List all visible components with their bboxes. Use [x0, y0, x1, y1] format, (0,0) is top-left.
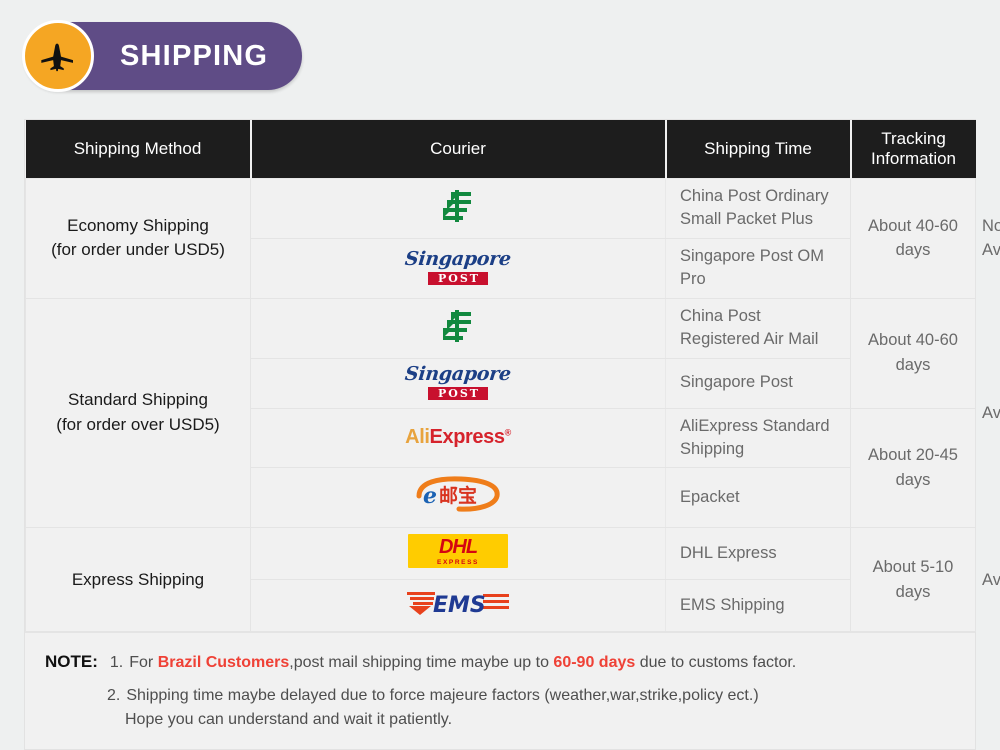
- note-item-2-number: 2.: [107, 684, 120, 709]
- badge-title: SHIPPING: [120, 40, 268, 73]
- shipping-time-cell: About 40-60 days: [851, 298, 976, 408]
- china-post-logo: [251, 179, 666, 239]
- courier-name: Epacket: [666, 468, 851, 528]
- dhl-wordmark: DHL: [408, 536, 508, 559]
- aliexpress-e: E: [430, 426, 443, 448]
- table-row: Standard Shipping (for order over USD5): [26, 298, 976, 358]
- epacket-logo: e 邮宝: [251, 468, 666, 528]
- note-1-highlight-days: 60-90 days: [553, 654, 635, 671]
- header-courier: Courier: [251, 120, 666, 179]
- ems-logo: EMS: [251, 580, 666, 632]
- method-standard-shipping: Standard Shipping (for order over USD5): [26, 298, 251, 528]
- aliexpress-ali: Ali: [405, 426, 429, 448]
- shipping-info-page: SHIPPING Shipping Method Courier Shippin…: [0, 0, 1000, 748]
- method-express-shipping: Express Shipping: [26, 528, 251, 632]
- method-label: Standard Shipping: [68, 390, 208, 409]
- method-label: Economy Shipping: [67, 216, 209, 235]
- singapore-post-script: Singapore: [404, 250, 512, 269]
- note-label: NOTE:: [45, 649, 98, 675]
- note-line-2: 2. Shipping time maybe delayed due to fo…: [45, 684, 955, 709]
- table-row: Economy Shipping (for order under USD5): [26, 179, 976, 239]
- method-sublabel: (for order over USD5): [34, 413, 242, 438]
- note-line-1: NOTE: 1. For Brazil Customers,post mail …: [45, 649, 955, 676]
- note-item-2-text: Shipping time maybe delayed due to force…: [126, 684, 758, 709]
- method-sublabel: (for order under USD5): [34, 238, 242, 263]
- shipping-time-cell: About 5-10 days: [851, 528, 976, 632]
- method-economy-shipping: Economy Shipping (for order under USD5): [26, 179, 251, 299]
- note-1-part-1: For: [129, 654, 157, 671]
- dhl-subtext: EXPRESS: [408, 559, 508, 566]
- courier-name: Singapore Post: [666, 358, 851, 408]
- tracking-line1: Not: [982, 217, 1000, 235]
- shipping-table: Shipping Method Courier Shipping Time Tr…: [25, 120, 976, 632]
- note-line-2-continued: Hope you can understand and wait it pati…: [45, 711, 955, 729]
- shipping-time-cell: About 40-60 days: [851, 179, 976, 299]
- shipping-badge: SHIPPING: [24, 22, 302, 90]
- courier-name: China Post Registered Air Mail: [666, 298, 851, 358]
- ems-wordmark: EMS: [433, 593, 486, 618]
- singapore-post-logo: Singapore POST: [251, 238, 666, 298]
- courier-name: Singapore Post OM Pro: [666, 238, 851, 298]
- shipping-table-wrapper: Shipping Method Courier Shipping Time Tr…: [24, 119, 976, 750]
- airplane-icon: [22, 20, 94, 92]
- courier-name: AliExpress Standard Shipping: [666, 408, 851, 468]
- method-label: Express Shipping: [72, 570, 204, 589]
- aliexpress-xpress: xpress: [442, 426, 504, 448]
- svg-text:邮宝: 邮宝: [439, 484, 477, 507]
- svg-text:e: e: [423, 483, 437, 509]
- header-tracking-line1: Tracking: [881, 129, 946, 148]
- note-section: NOTE: 1. For Brazil Customers,post mail …: [25, 632, 975, 749]
- dhl-logo: DHL EXPRESS: [251, 528, 666, 580]
- header-tracking-line2: Information: [871, 149, 956, 168]
- table-header-row: Shipping Method Courier Shipping Time Tr…: [26, 120, 976, 179]
- aliexpress-logo: AliExpress®: [251, 408, 666, 468]
- china-post-logo: [251, 298, 666, 358]
- courier-name: China Post Ordinary Small Packet Plus: [666, 179, 851, 239]
- note-item-1-number: 1.: [110, 651, 123, 676]
- table-row: Express Shipping DHL EXPRESS DHL Express…: [26, 528, 976, 580]
- singapore-post-script: Singapore: [404, 365, 512, 384]
- note-1-part-2: ,post mail shipping time maybe up to: [289, 654, 553, 671]
- header-shipping-method: Shipping Method: [26, 120, 251, 179]
- header-tracking-information: Tracking Information: [851, 120, 976, 179]
- shipping-time-cell: About 20-45 days: [851, 408, 976, 528]
- header-shipping-time: Shipping Time: [666, 120, 851, 179]
- singapore-post-box: POST: [428, 272, 488, 285]
- note-1-highlight-brazil: Brazil Customers: [158, 654, 290, 671]
- note-1-part-3: due to customs factor.: [635, 654, 796, 671]
- note-item-1-text: For Brazil Customers,post mail shipping …: [129, 651, 796, 676]
- courier-name: DHL Express: [666, 528, 851, 580]
- courier-name: EMS Shipping: [666, 580, 851, 632]
- singapore-post-box: POST: [428, 387, 488, 400]
- singapore-post-logo: Singapore POST: [251, 358, 666, 408]
- aliexpress-trademark: ®: [505, 428, 511, 438]
